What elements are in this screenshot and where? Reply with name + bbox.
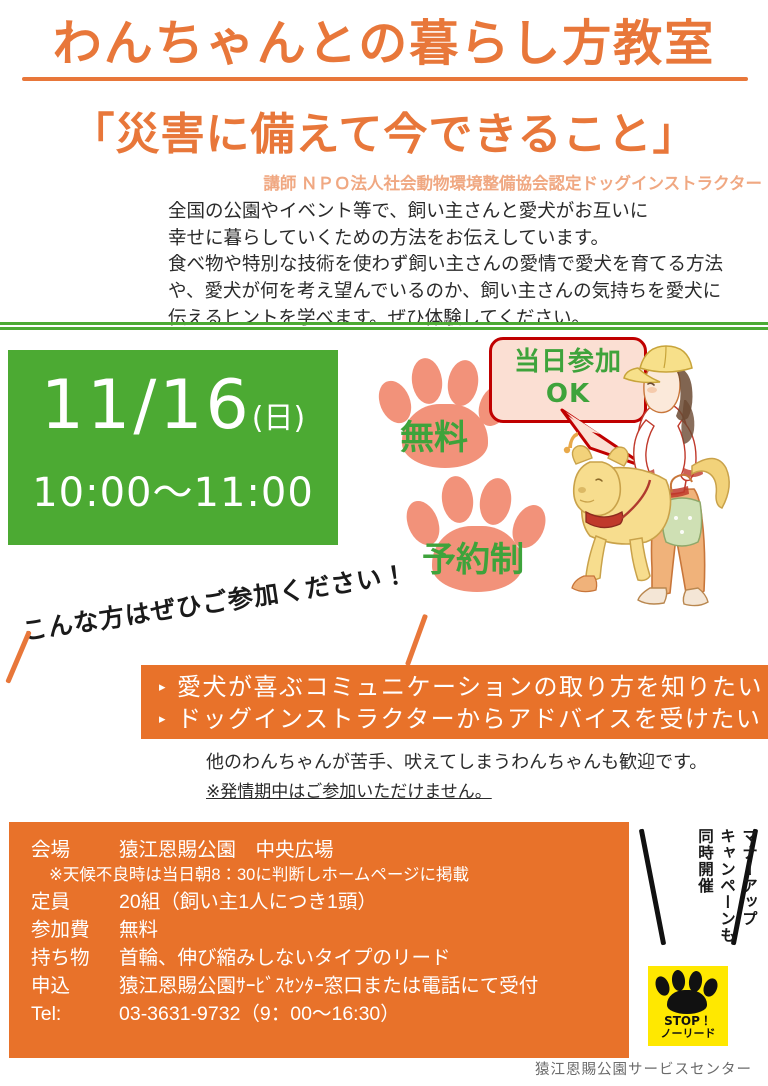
bullet-text: 愛犬が喜ぶコミュニケーションの取り方を知りたい	[177, 673, 763, 701]
bring-label: 持ち物	[31, 944, 119, 972]
bullet-text: ドッグインストラクターからアドバイスを受けたい	[177, 705, 761, 733]
tel-value: 03-3631-9732（9：00〜16:30）	[119, 1003, 400, 1025]
stop-no-leash-badge: STOP！ ノーリード	[648, 966, 728, 1046]
tel-label: Tel:	[31, 1000, 119, 1028]
detail-row-apply: 申込猿江恩賜公園ｻｰﾋﾞｽｾﾝﾀｰ窓口または電話にて受付	[9, 972, 629, 1000]
campaign-line-2: キャンペーンも	[718, 828, 734, 944]
detail-row-bring: 持ち物首輪、伸び縮みしないタイプのリード	[9, 944, 629, 972]
join-heading: こんな方はぜひご参加ください！	[19, 550, 440, 648]
apply-label: 申込	[31, 972, 119, 1000]
apply-value: 猿江恩賜公園ｻｰﾋﾞｽｾﾝﾀｰ窓口または電話にて受付	[119, 975, 538, 997]
capacity-value: 20組（飼い主1人につき1頭）	[119, 891, 377, 913]
detail-row-weather: ※天候不良時は当日朝8：30に判断しホームページに掲載	[9, 864, 629, 888]
venue-label: 会場	[31, 836, 119, 864]
list-item: ▸ドッグインストラクターからアドバイスを受けたい	[159, 704, 768, 736]
lead-line: や、愛犬が何を考え望んでいるのか、飼い主さんの気持ちを愛犬に	[168, 278, 760, 305]
fee-value: 無料	[119, 919, 158, 941]
welcome-note: 他のわんちゃんが苦手、吠えてしまうわんちゃんも歓迎です。	[206, 748, 766, 774]
badge-free-label: 無料	[400, 410, 468, 459]
venue-value: 猿江恩賜公園 中央広場	[119, 839, 334, 861]
join-heading-text: こんな方はぜひご参加ください！	[20, 559, 410, 645]
event-day-of-week: (日)	[252, 401, 305, 436]
title-underline	[22, 77, 748, 81]
list-item: ▸愛犬が喜ぶコミュニケーションの取り方を知りたい	[159, 672, 768, 704]
detail-row-tel: Tel:03-3631-9732（9：00〜16:30）	[9, 1000, 629, 1028]
bring-value: 首輪、伸び縮みしないタイプのリード	[119, 947, 451, 969]
event-date-line: 11/16(日)	[8, 366, 338, 445]
restriction-note: ※発情期中はご参加いただけません。	[206, 777, 492, 802]
weather-note: ※天候不良時は当日朝8：30に判断しホームページに掲載	[49, 866, 469, 884]
heading-slash-left-icon	[5, 630, 31, 684]
lead-paragraph: 全国の公園やイベント等で、飼い主さんと愛犬がお互いに 幸せに暮らしていくための方…	[168, 198, 760, 331]
bullet-marker-icon: ▸	[159, 679, 167, 696]
event-details-box: 会場猿江恩賜公園 中央広場 ※天候不良時は当日朝8：30に判断しホームページに掲…	[9, 822, 629, 1058]
heading-slash-right-icon	[405, 614, 428, 666]
page-title: わんちゃんとの暮らし方教室	[0, 18, 768, 69]
poster-subtitle: 「災害に備えて今できること」	[0, 98, 768, 162]
event-time: 10:00〜11:00	[8, 460, 338, 518]
detail-row-capacity: 定員20組（飼い主1人につき1頭）	[9, 888, 629, 916]
lead-line: 全国の公園やイベント等で、飼い主さんと愛犬がお互いに	[168, 198, 760, 225]
green-divider	[0, 322, 768, 330]
bullet-marker-icon: ▸	[159, 711, 167, 728]
campaign-line-3: 同時開催	[696, 828, 712, 894]
detail-row-fee: 参加費無料	[9, 916, 629, 944]
event-date: 11/16	[41, 366, 252, 445]
campaign-vertical-text: マナーアップ キャンペーンも 同時開催	[648, 826, 758, 956]
footer-organization: 猿江恩賜公園サービスセンター	[0, 1058, 752, 1079]
instructor-credit: 講師 ＮＰＯ法人社会動物環境整備協会認定ドッグインストラクター	[0, 170, 762, 194]
target-audience-box: ▸愛犬が喜ぶコミュニケーションの取り方を知りたい ▸ドッグインストラクターからア…	[141, 665, 768, 739]
poster-title-block: わんちゃんとの暮らし方教室	[0, 18, 768, 69]
lead-line: 食べ物や特別な技術を使わず飼い主さんの愛情で愛犬を育てる方法	[168, 251, 760, 278]
campaign-line-1: マナーアップ	[740, 828, 756, 927]
lead-line: 幸せに暮らしていくための方法をお伝えしています。	[168, 225, 760, 252]
stop-badge-line-2: ノーリード	[648, 1025, 728, 1041]
detail-row-venue: 会場猿江恩賜公園 中央広場	[9, 822, 629, 864]
illustration-woman-walking-dog	[560, 340, 768, 610]
fee-label: 参加費	[31, 916, 119, 944]
event-date-box: 11/16(日) 10:00〜11:00	[8, 350, 338, 545]
capacity-label: 定員	[31, 888, 119, 916]
